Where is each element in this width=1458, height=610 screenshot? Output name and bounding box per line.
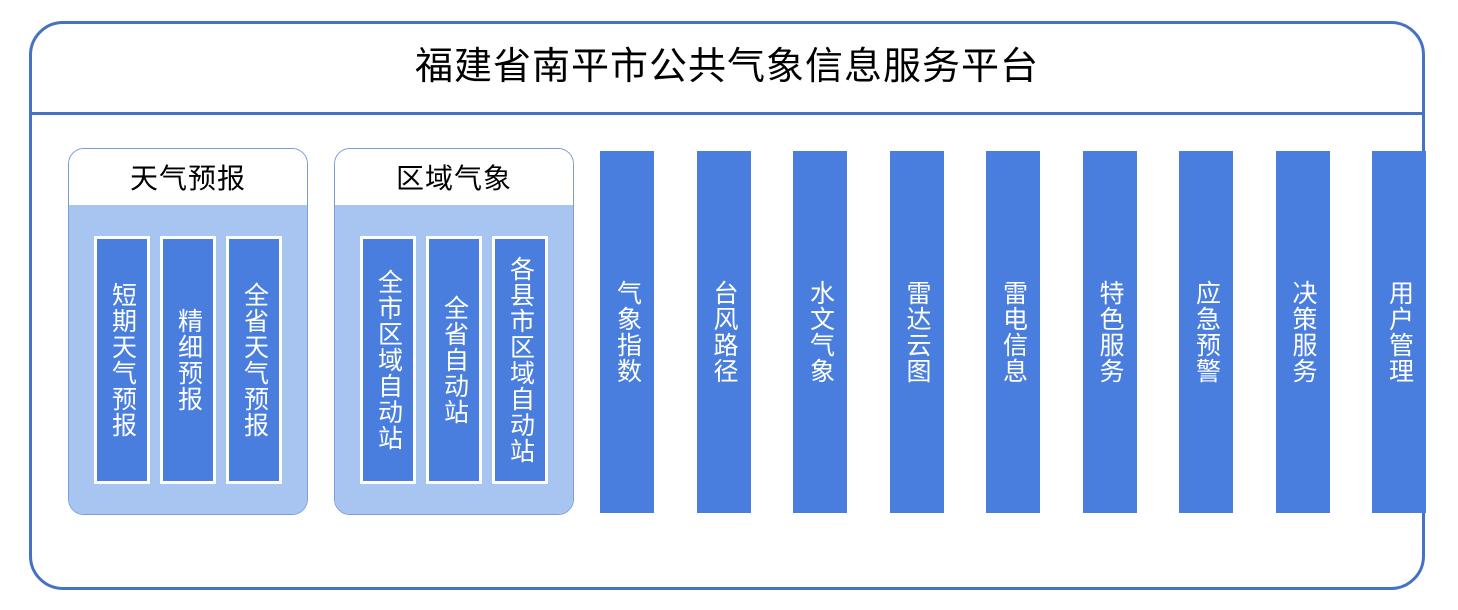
module-bar-label: 气象指数 xyxy=(614,280,641,384)
modules-row: 天气预报 短期天气预报 精细预报 全省天气预报 区域气象 xyxy=(32,115,1422,587)
module-group-regional-meteorology[interactable]: 区域气象 全市区域自动站 全省自动站 各县市区域自动站 xyxy=(334,148,574,515)
module-bar-radar-cloud-map[interactable]: 雷达云图 xyxy=(890,151,944,513)
module-item-label: 全市区域自动站 xyxy=(375,269,402,451)
module-item[interactable]: 全省自动站 xyxy=(426,236,482,484)
module-item-label: 各县市区域自动站 xyxy=(507,256,534,464)
module-item-label: 短期天气预报 xyxy=(109,282,136,438)
module-group-title: 区域气象 xyxy=(396,157,512,197)
module-item[interactable]: 各县市区域自动站 xyxy=(492,236,548,484)
module-bar-label: 水文气象 xyxy=(807,280,834,384)
module-item[interactable]: 精细预报 xyxy=(160,236,216,484)
module-group-body: 全市区域自动站 全省自动站 各县市区域自动站 xyxy=(335,205,573,514)
module-bar-label: 雷达云图 xyxy=(903,280,930,384)
module-bar-label: 雷电信息 xyxy=(1000,280,1027,384)
module-bar-label: 决策服务 xyxy=(1289,280,1316,384)
module-bar-hydro-meteorology[interactable]: 水文气象 xyxy=(793,151,847,513)
platform-title-bar: 福建省南平市公共气象信息服务平台 xyxy=(32,24,1422,115)
page-title: 福建省南平市公共气象信息服务平台 xyxy=(415,47,1039,89)
module-group-header: 区域气象 xyxy=(335,149,573,205)
module-group-body: 短期天气预报 精细预报 全省天气预报 xyxy=(69,205,307,514)
module-group-title: 天气预报 xyxy=(130,157,246,197)
module-bar-label: 特色服务 xyxy=(1096,280,1123,384)
module-bar-featured-services[interactable]: 特色服务 xyxy=(1083,151,1137,513)
module-item[interactable]: 全省天气预报 xyxy=(226,236,282,484)
platform-frame: 福建省南平市公共气象信息服务平台 天气预报 短期天气预报 精细预报 全省天气预报 xyxy=(29,21,1425,590)
diagram-canvas: 福建省南平市公共气象信息服务平台 天气预报 短期天气预报 精细预报 全省天气预报 xyxy=(0,0,1458,610)
module-item-label: 精细预报 xyxy=(175,308,202,412)
module-bar-meteorological-index[interactable]: 气象指数 xyxy=(600,151,654,513)
module-bar-label: 应急预警 xyxy=(1193,280,1220,384)
module-bar-emergency-warning[interactable]: 应急预警 xyxy=(1179,151,1233,513)
module-item-label: 全省自动站 xyxy=(441,295,468,425)
module-bar-lightning-info[interactable]: 雷电信息 xyxy=(986,151,1040,513)
module-group-header: 天气预报 xyxy=(69,149,307,205)
module-bars-strip: 气象指数 台风路径 水文气象 雷达云图 雷电信息 特色服务 应急 xyxy=(600,151,1426,513)
module-bar-user-management[interactable]: 用户管理 xyxy=(1372,151,1426,513)
module-item[interactable]: 全市区域自动站 xyxy=(360,236,416,484)
module-item-label: 全省天气预报 xyxy=(241,282,268,438)
module-bar-label: 用户管理 xyxy=(1386,280,1413,384)
module-bar-label: 台风路径 xyxy=(710,280,737,384)
module-bar-decision-services[interactable]: 决策服务 xyxy=(1276,151,1330,513)
module-item[interactable]: 短期天气预报 xyxy=(94,236,150,484)
module-group-weather-forecast[interactable]: 天气预报 短期天气预报 精细预报 全省天气预报 xyxy=(68,148,308,515)
module-bar-typhoon-path[interactable]: 台风路径 xyxy=(697,151,751,513)
